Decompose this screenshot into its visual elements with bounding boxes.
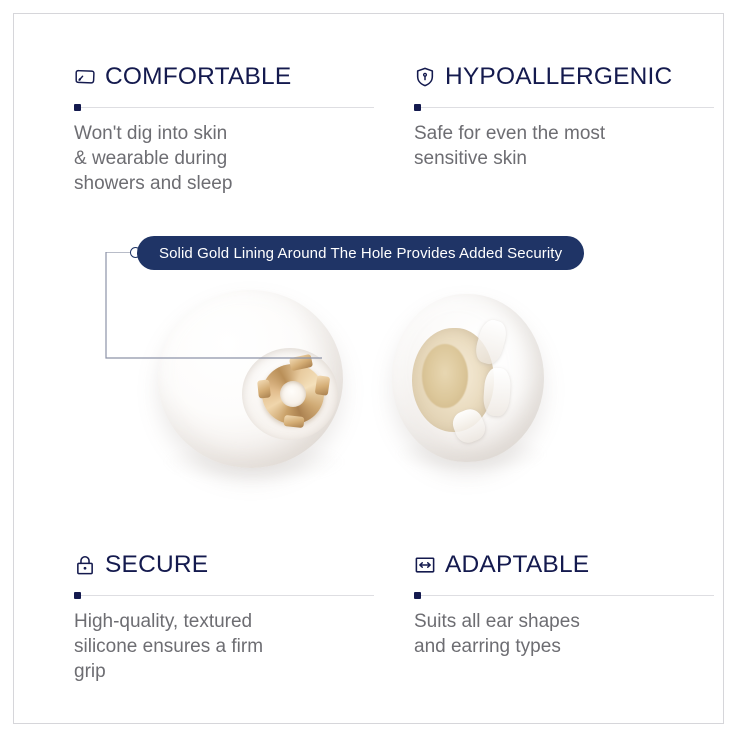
divider-dot — [74, 592, 81, 599]
feature-title: COMFORTABLE — [105, 63, 291, 91]
feature-divider — [417, 107, 714, 108]
feature-block-hypoallergenic: HYPOALLERGENIC Safe for even the most se… — [414, 62, 714, 171]
feature-description: High-quality, textured silicone ensures … — [74, 609, 374, 684]
feature-divider — [77, 107, 374, 108]
feature-block-comfortable: COMFORTABLE Won't dig into skin & wearab… — [74, 62, 374, 196]
feature-description: Suits all ear shapes and earring types — [414, 609, 714, 659]
silicone-ridge — [472, 317, 509, 366]
feature-description: Safe for even the most sensitive skin — [414, 121, 714, 171]
feature-block-secure: SECURE High-quality, textured silicone e… — [74, 550, 374, 684]
earring-back-gold-core — [422, 344, 468, 408]
earring-back-angled-view — [392, 294, 544, 462]
divider-dot — [74, 104, 81, 111]
feature-description: Won't dig into skin & wearable during sh… — [74, 121, 374, 196]
pillow-icon — [74, 66, 96, 88]
gold-notch-right — [315, 375, 331, 396]
product-photo — [120, 272, 620, 502]
feature-heading-row: COMFORTABLE — [74, 62, 374, 92]
feature-divider — [417, 595, 714, 596]
resize-arrows-icon — [414, 554, 436, 576]
lock-icon — [74, 554, 96, 576]
callout-banner: Solid Gold Lining Around The Hole Provid… — [137, 236, 584, 270]
gold-notch-left — [257, 379, 271, 398]
feature-heading-row: HYPOALLERGENIC — [414, 62, 714, 92]
shield-icon — [414, 66, 436, 88]
feature-title: HYPOALLERGENIC — [445, 63, 672, 91]
feature-title: SECURE — [105, 551, 208, 579]
divider-dot — [414, 592, 421, 599]
callout-label: Solid Gold Lining Around The Hole Provid… — [159, 245, 562, 262]
divider-dot — [414, 104, 421, 111]
feature-title: ADAPTABLE — [445, 551, 589, 579]
feature-heading-row: ADAPTABLE — [414, 550, 714, 580]
feature-block-adaptable: ADAPTABLE Suits all ear shapes and earri… — [414, 550, 714, 659]
gold-notch-bottom — [283, 415, 304, 428]
infographic-page: COMFORTABLE Won't dig into skin & wearab… — [0, 0, 737, 737]
silicone-ridge — [482, 367, 511, 417]
feature-heading-row: SECURE — [74, 550, 374, 580]
earring-back-front-view — [158, 290, 343, 468]
feature-divider — [77, 595, 374, 596]
